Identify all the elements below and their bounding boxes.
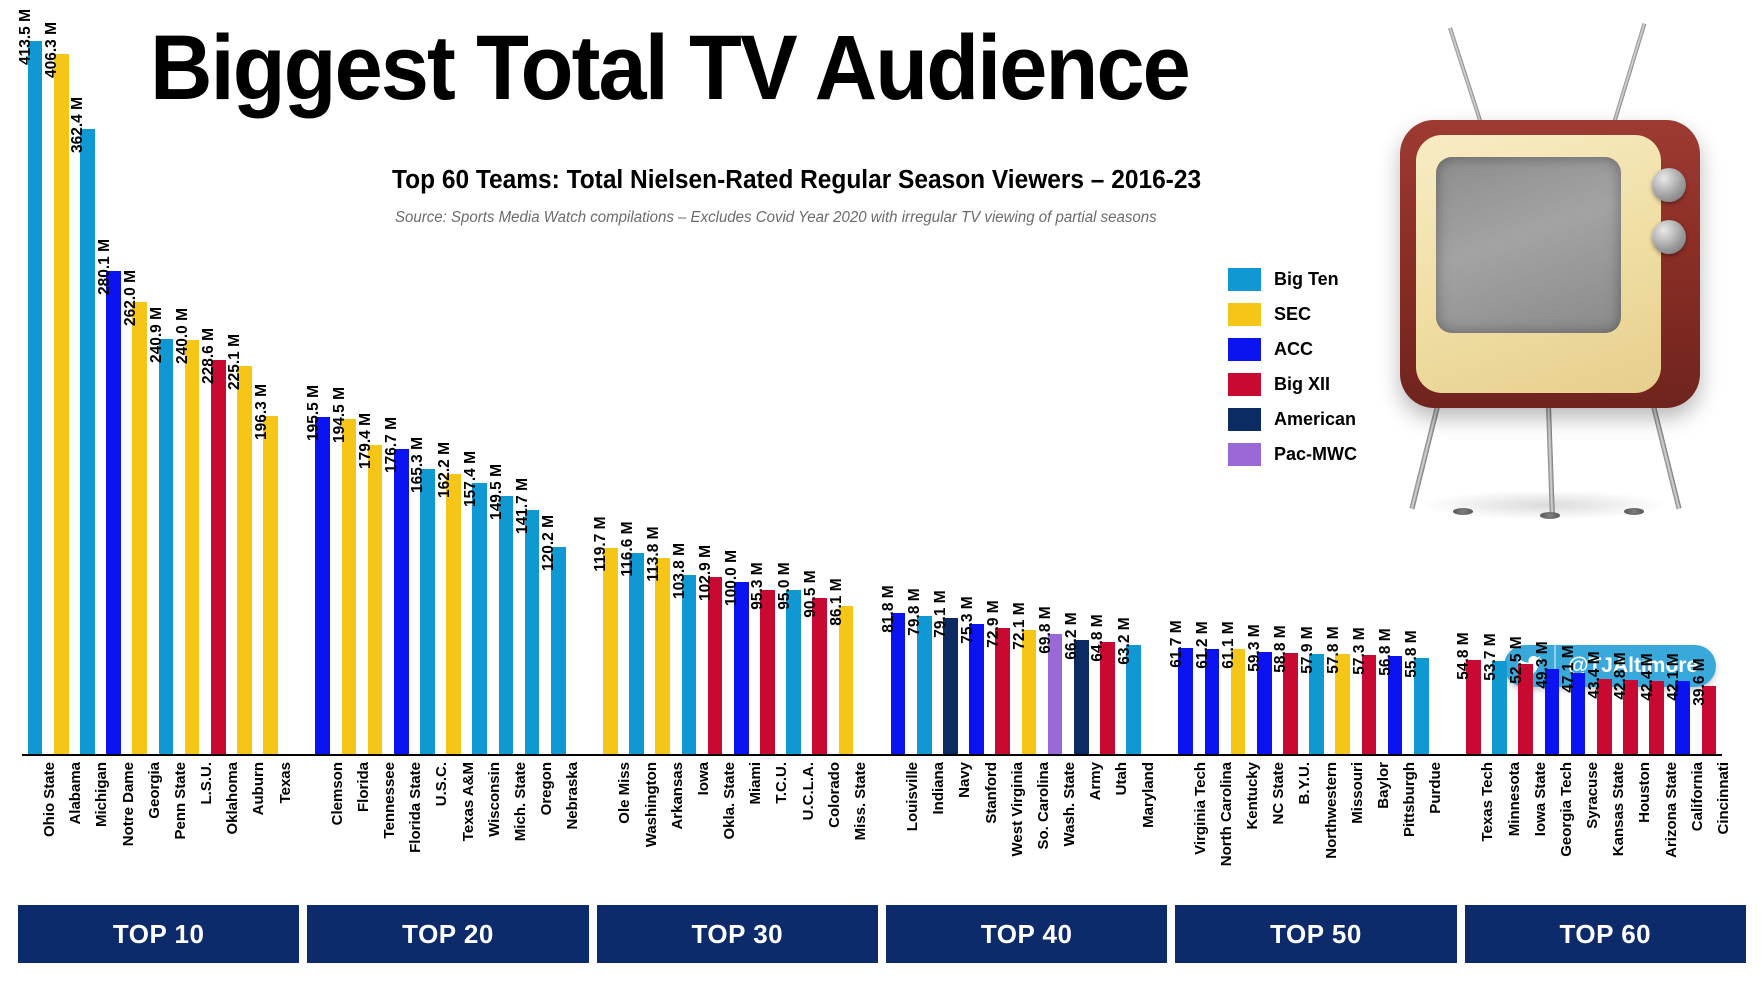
x-axis-tick-label: Wash. State [1061,762,1078,846]
bar[interactable] [237,366,252,754]
bar[interactable] [891,613,906,754]
group-banner-cell-top-40: TOP 40 [886,905,1167,963]
bar[interactable] [525,510,540,754]
bar-column: 149.5 M [499,496,514,754]
bar-column: 90.5 M [812,598,827,754]
bar[interactable] [368,445,383,754]
bar-column: 194.5 M [342,419,357,754]
bar-column: 86.1 M [839,606,854,754]
bar[interactable] [106,271,121,754]
x-axis-tick-label: NC State [1270,762,1287,825]
bar-column: 58.8 M [1283,653,1298,754]
bar-column: 113.8 M [655,558,670,754]
x-axis-tick-label: Mich. State [512,762,529,841]
x-axis-tick-label: Indiana [930,762,947,815]
x-axis-tick-label: Iowa [695,762,712,795]
bar-value-label: 240.0 M [174,308,192,364]
bar-column: 69.8 M [1048,634,1063,754]
x-axis-tick-label: Colorado [826,762,843,828]
x-axis-tick-label: Wisconsin [486,762,503,837]
bar[interactable] [132,302,147,754]
x-axis-tick-labels: Ohio StateAlabamaMichiganNotre DameGeorg… [22,762,1722,902]
bar-column: 54.8 M [1466,660,1481,754]
bar-column: 102.9 M [708,577,723,754]
bar-column: 116.6 M [629,553,644,754]
x-axis-tick-label: Virginia Tech [1192,762,1209,855]
bar-value-label: 66.2 M [1063,612,1081,659]
bar-column: 43.4 M [1597,679,1612,754]
bar-column: 72.1 M [1022,630,1037,754]
bar-column: 162.2 M [446,474,461,754]
bar[interactable] [28,41,43,754]
bar[interactable] [760,590,775,754]
x-axis-tick-label: Baylor [1375,762,1392,809]
bar-value-label: 406.3 M [43,22,61,78]
x-axis-tick-label: Minnesota [1506,762,1523,836]
bar-column: 79.8 M [917,616,932,754]
group-banner-cell-top-20: TOP 20 [307,905,588,963]
bar-column: 42.1 M [1675,681,1690,754]
bar-column: 240.9 M [159,339,174,754]
x-axis-tick-label: Clemson [329,762,346,825]
bar[interactable] [185,340,200,754]
group-banner-cell-top-30: TOP 30 [597,905,878,963]
bar[interactable] [734,582,749,754]
bar-column: 39.6 M [1702,686,1717,754]
x-axis-tick-label: Houston [1636,762,1653,823]
x-axis-tick-label: Florida State [407,762,424,853]
bar[interactable] [786,590,801,754]
bar[interactable] [943,618,958,754]
bar-column: 157.4 M [472,483,487,754]
bar[interactable] [629,553,644,754]
x-axis-tick-label: Ohio State [41,762,58,837]
x-axis-tick-label: Nebraska [564,762,581,830]
bar[interactable] [603,548,618,754]
x-axis-tick-label: Texas Tech [1479,762,1496,841]
bar-column: 63.2 M [1126,645,1141,754]
bar[interactable] [472,483,487,754]
x-axis-tick-label: U.S.C. [433,762,450,806]
bar-column: 42.4 M [1649,681,1664,754]
bar-value-label: 72.1 M [1011,602,1029,649]
bar-column: 47.1 M [1571,673,1586,754]
x-axis-tick-label: Texas A&M [460,762,477,841]
bar-column: 81.8 M [891,613,906,754]
bar-value-label: 95.0 M [776,563,794,610]
bar-value-label: 362.4 M [69,97,87,153]
x-axis-tick-label: Missouri [1349,762,1366,824]
x-axis-tick-label: Oregon [538,762,555,815]
bar-value-label: 95.3 M [749,562,767,609]
bar[interactable] [655,558,670,754]
bar-value-label: 225.1 M [226,334,244,390]
x-axis-tick-label: Washington [643,762,660,847]
group-banner: TOP 10TOP 20TOP 30TOP 40TOP 50TOP 60 [18,905,1746,963]
bar-value-label: 61.7 M [1168,620,1186,667]
x-axis-tick-label: Florida [355,762,372,812]
bar-column: 61.1 M [1231,649,1246,754]
bar[interactable] [394,449,409,754]
bar-column: 176.7 M [394,449,409,754]
bar-column: 141.7 M [525,510,540,754]
bar-column: 49.3 M [1545,669,1560,754]
bar[interactable] [499,496,514,754]
bar-column: 59.3 M [1257,652,1272,754]
bar-value-label: 54.8 M [1455,632,1473,679]
bar-column: 95.0 M [786,590,801,754]
bar-value-label: 43.4 M [1586,651,1604,698]
bar-value-label: 86.1 M [828,578,846,625]
bar-value-label: 64.8 M [1089,615,1107,662]
bar-value-label: 79.8 M [906,589,924,636]
bar-value-label: 103.8 M [671,543,689,599]
bar-value-label: 57.3 M [1351,628,1369,675]
bar-column: 262.0 M [132,302,147,754]
x-axis-tick-label: Penn State [172,762,189,840]
bar-column: 64.8 M [1100,642,1115,754]
x-axis-tick-label: Louisville [904,762,921,831]
bar[interactable] [446,474,461,754]
bar-value-label: 195.5 M [305,385,323,441]
x-axis-tick-label: B.Y.U. [1296,762,1313,805]
bar-column: 179.4 M [368,445,383,754]
x-axis-tick-label: Miami [747,762,764,805]
bar-value-label: 58.8 M [1272,625,1290,672]
bar-column: 119.7 M [603,548,618,754]
bar-value-label: 42.1 M [1665,654,1683,701]
bar-column: 66.2 M [1074,640,1089,754]
bar-column: 100.0 M [734,582,749,754]
x-axis-tick-label: Notre Dame [120,762,137,846]
bar[interactable] [551,547,566,754]
bar[interactable] [420,469,435,754]
bar-column: 57.3 M [1362,655,1377,754]
bar-value-label: 141.7 M [514,478,532,534]
bar-value-label: 413.5 M [17,9,35,65]
bar[interactable] [342,419,357,754]
x-axis-tick-label: Oklahoma [224,762,241,835]
x-axis-tick-label: Ole Miss [616,762,633,824]
bar-value-label: 56.8 M [1377,628,1395,675]
bar-value-label: 55.8 M [1403,630,1421,677]
bar-value-label: 196.3 M [253,384,271,440]
bar-column: 57.9 M [1309,654,1324,754]
bar-value-label: 102.9 M [697,545,715,601]
bar-column: 103.8 M [682,575,697,754]
x-axis-tick-label: Miss. State [852,762,869,840]
bar[interactable] [263,416,278,754]
bar-value-label: 49.3 M [1534,641,1552,688]
x-axis-tick-label: Auburn [250,762,267,815]
x-axis-line [22,754,1722,756]
x-axis-tick-label: Iowa State [1532,762,1549,836]
bar-value-label: 116.6 M [619,521,637,576]
x-axis-tick-label: Syracuse [1584,762,1601,829]
x-axis-tick-label: Alabama [67,762,84,825]
x-axis-tick-label: Pittsburgh [1401,762,1418,837]
bar-value-label: 81.8 M [880,585,898,632]
bar-column: 52.5 M [1518,664,1533,755]
bar-value-label: 47.1 M [1560,645,1578,692]
bar-column: 79.1 M [943,618,958,754]
bar[interactable] [839,606,854,754]
group-banner-cell-top-60: TOP 60 [1465,905,1746,963]
bar-value-label: 61.1 M [1220,621,1238,668]
x-axis-tick-label: Utah [1113,762,1130,795]
bar-value-label: 61.2 M [1194,621,1212,668]
bar-value-label: 90.5 M [802,570,820,617]
bar-value-label: 162.2 M [436,442,454,498]
group-banner-cell-top-50: TOP 50 [1175,905,1456,963]
x-axis-tick-label: Kentucky [1244,762,1261,830]
bar-value-label: 69.8 M [1037,606,1055,653]
bar-column: 72.9 M [995,628,1010,754]
bar-value-label: 52.5 M [1508,636,1526,683]
bar-value-label: 42.8 M [1612,653,1630,700]
bar-column: 95.3 M [760,590,775,754]
bar-column: 61.2 M [1205,649,1220,754]
bar-value-label: 59.3 M [1246,624,1264,671]
bar-value-label: 262.0 M [122,270,140,326]
bar-column: 120.2 M [551,547,566,754]
bar-column: 228.6 M [211,360,226,754]
bar-value-label: 149.5 M [488,464,506,520]
bar-value-label: 240.9 M [148,307,166,363]
x-axis-tick-label: Georgia Tech [1558,762,1575,857]
bar-value-label: 157.4 M [462,451,480,507]
bar-value-label: 165.3 M [409,437,427,493]
bar-value-label: 120.2 M [540,515,558,571]
bar[interactable] [315,417,330,754]
x-axis-tick-label: Kansas State [1610,762,1627,856]
bar-value-label: 100.0 M [723,550,741,606]
bar-column: 75.3 M [969,624,984,754]
bar-column: 362.4 M [80,129,95,754]
bar[interactable] [159,339,174,754]
bar-column: 55.8 M [1414,658,1429,754]
bar-value-label: 39.6 M [1691,658,1709,705]
bar-column: 56.8 M [1388,656,1403,754]
bar-value-label: 228.6 M [200,328,218,384]
bar-value-label: 42.4 M [1639,653,1657,700]
bar-column: 165.3 M [420,469,435,754]
x-axis-tick-label: T.C.U. [773,762,790,804]
x-axis-tick-label: Stanford [983,762,1000,824]
bar-value-label: 53.7 M [1482,634,1500,681]
bar[interactable] [80,129,95,754]
bar-value-label: 113.8 M [645,526,663,581]
bar-column: 225.1 M [237,366,252,754]
x-axis-tick-label: Okla. State [721,762,738,840]
x-axis-tick-label: Tennessee [381,762,398,838]
bar-column: 53.7 M [1492,661,1507,754]
x-axis-tick-label: California [1689,762,1706,831]
chart-plot-area: 413.5 M406.3 M362.4 M280.1 M262.0 M240.9… [22,26,1722,756]
x-axis-tick-label: Northwestern [1323,762,1340,859]
bar-column: 413.5 M [28,41,43,754]
bar[interactable] [211,360,226,754]
x-axis-tick-label: U.C.L.A. [800,762,817,820]
x-axis-tick-label: Arizona State [1663,762,1680,858]
x-axis-tick-label: Texas [277,762,294,803]
bar-column: 240.0 M [185,340,200,754]
bar-column: 195.5 M [315,417,330,754]
bar-value-label: 176.7 M [383,417,401,473]
bar-column: 406.3 M [54,54,69,754]
bar-column: 280.1 M [106,271,121,754]
bar-column: 196.3 M [263,416,278,754]
bar-column: 61.7 M [1178,648,1193,754]
x-axis-tick-label: L.S.U. [198,762,215,805]
bar-value-label: 79.1 M [932,590,950,637]
x-axis-tick-label: Michigan [93,762,110,827]
x-axis-tick-label: Army [1087,762,1104,800]
x-axis-tick-label: West Virginia [1009,762,1026,856]
bar-value-label: 179.4 M [357,413,375,469]
bar-value-label: 280.1 M [96,239,114,295]
bar-column: 42.8 M [1623,680,1638,754]
bar[interactable] [917,616,932,754]
bar[interactable] [812,598,827,754]
bar-value-label: 72.9 M [985,601,1003,648]
bar-value-label: 194.5 M [331,387,349,443]
x-axis-tick-label: Cincinnati [1715,762,1732,835]
bar-value-label: 57.9 M [1299,627,1317,674]
bar[interactable] [54,54,69,754]
bar-value-label: 75.3 M [959,597,977,644]
group-banner-cell-top-10: TOP 10 [18,905,299,963]
x-axis-tick-label: Navy [956,762,973,798]
x-axis-tick-label: Maryland [1140,762,1157,828]
infographic-root: Biggest Total TV Audience Top 60 Teams: … [0,0,1762,991]
x-axis-tick-label: Georgia [146,762,163,819]
bar-value-label: 63.2 M [1116,617,1134,664]
x-axis-tick-label: Arkansas [669,762,686,830]
x-axis-tick-label: North Carolina [1218,762,1235,866]
bar-chart: 413.5 M406.3 M362.4 M280.1 M262.0 M240.9… [22,26,1722,756]
bar-value-label: 119.7 M [592,516,610,571]
bar[interactable] [682,575,697,754]
x-axis-tick-label: So. Carolina [1035,762,1052,850]
bar-value-label: 57.8 M [1325,627,1343,674]
bar-column: 57.8 M [1335,654,1350,754]
x-axis-tick-label: Purdue [1427,762,1444,814]
bar[interactable] [708,577,723,754]
